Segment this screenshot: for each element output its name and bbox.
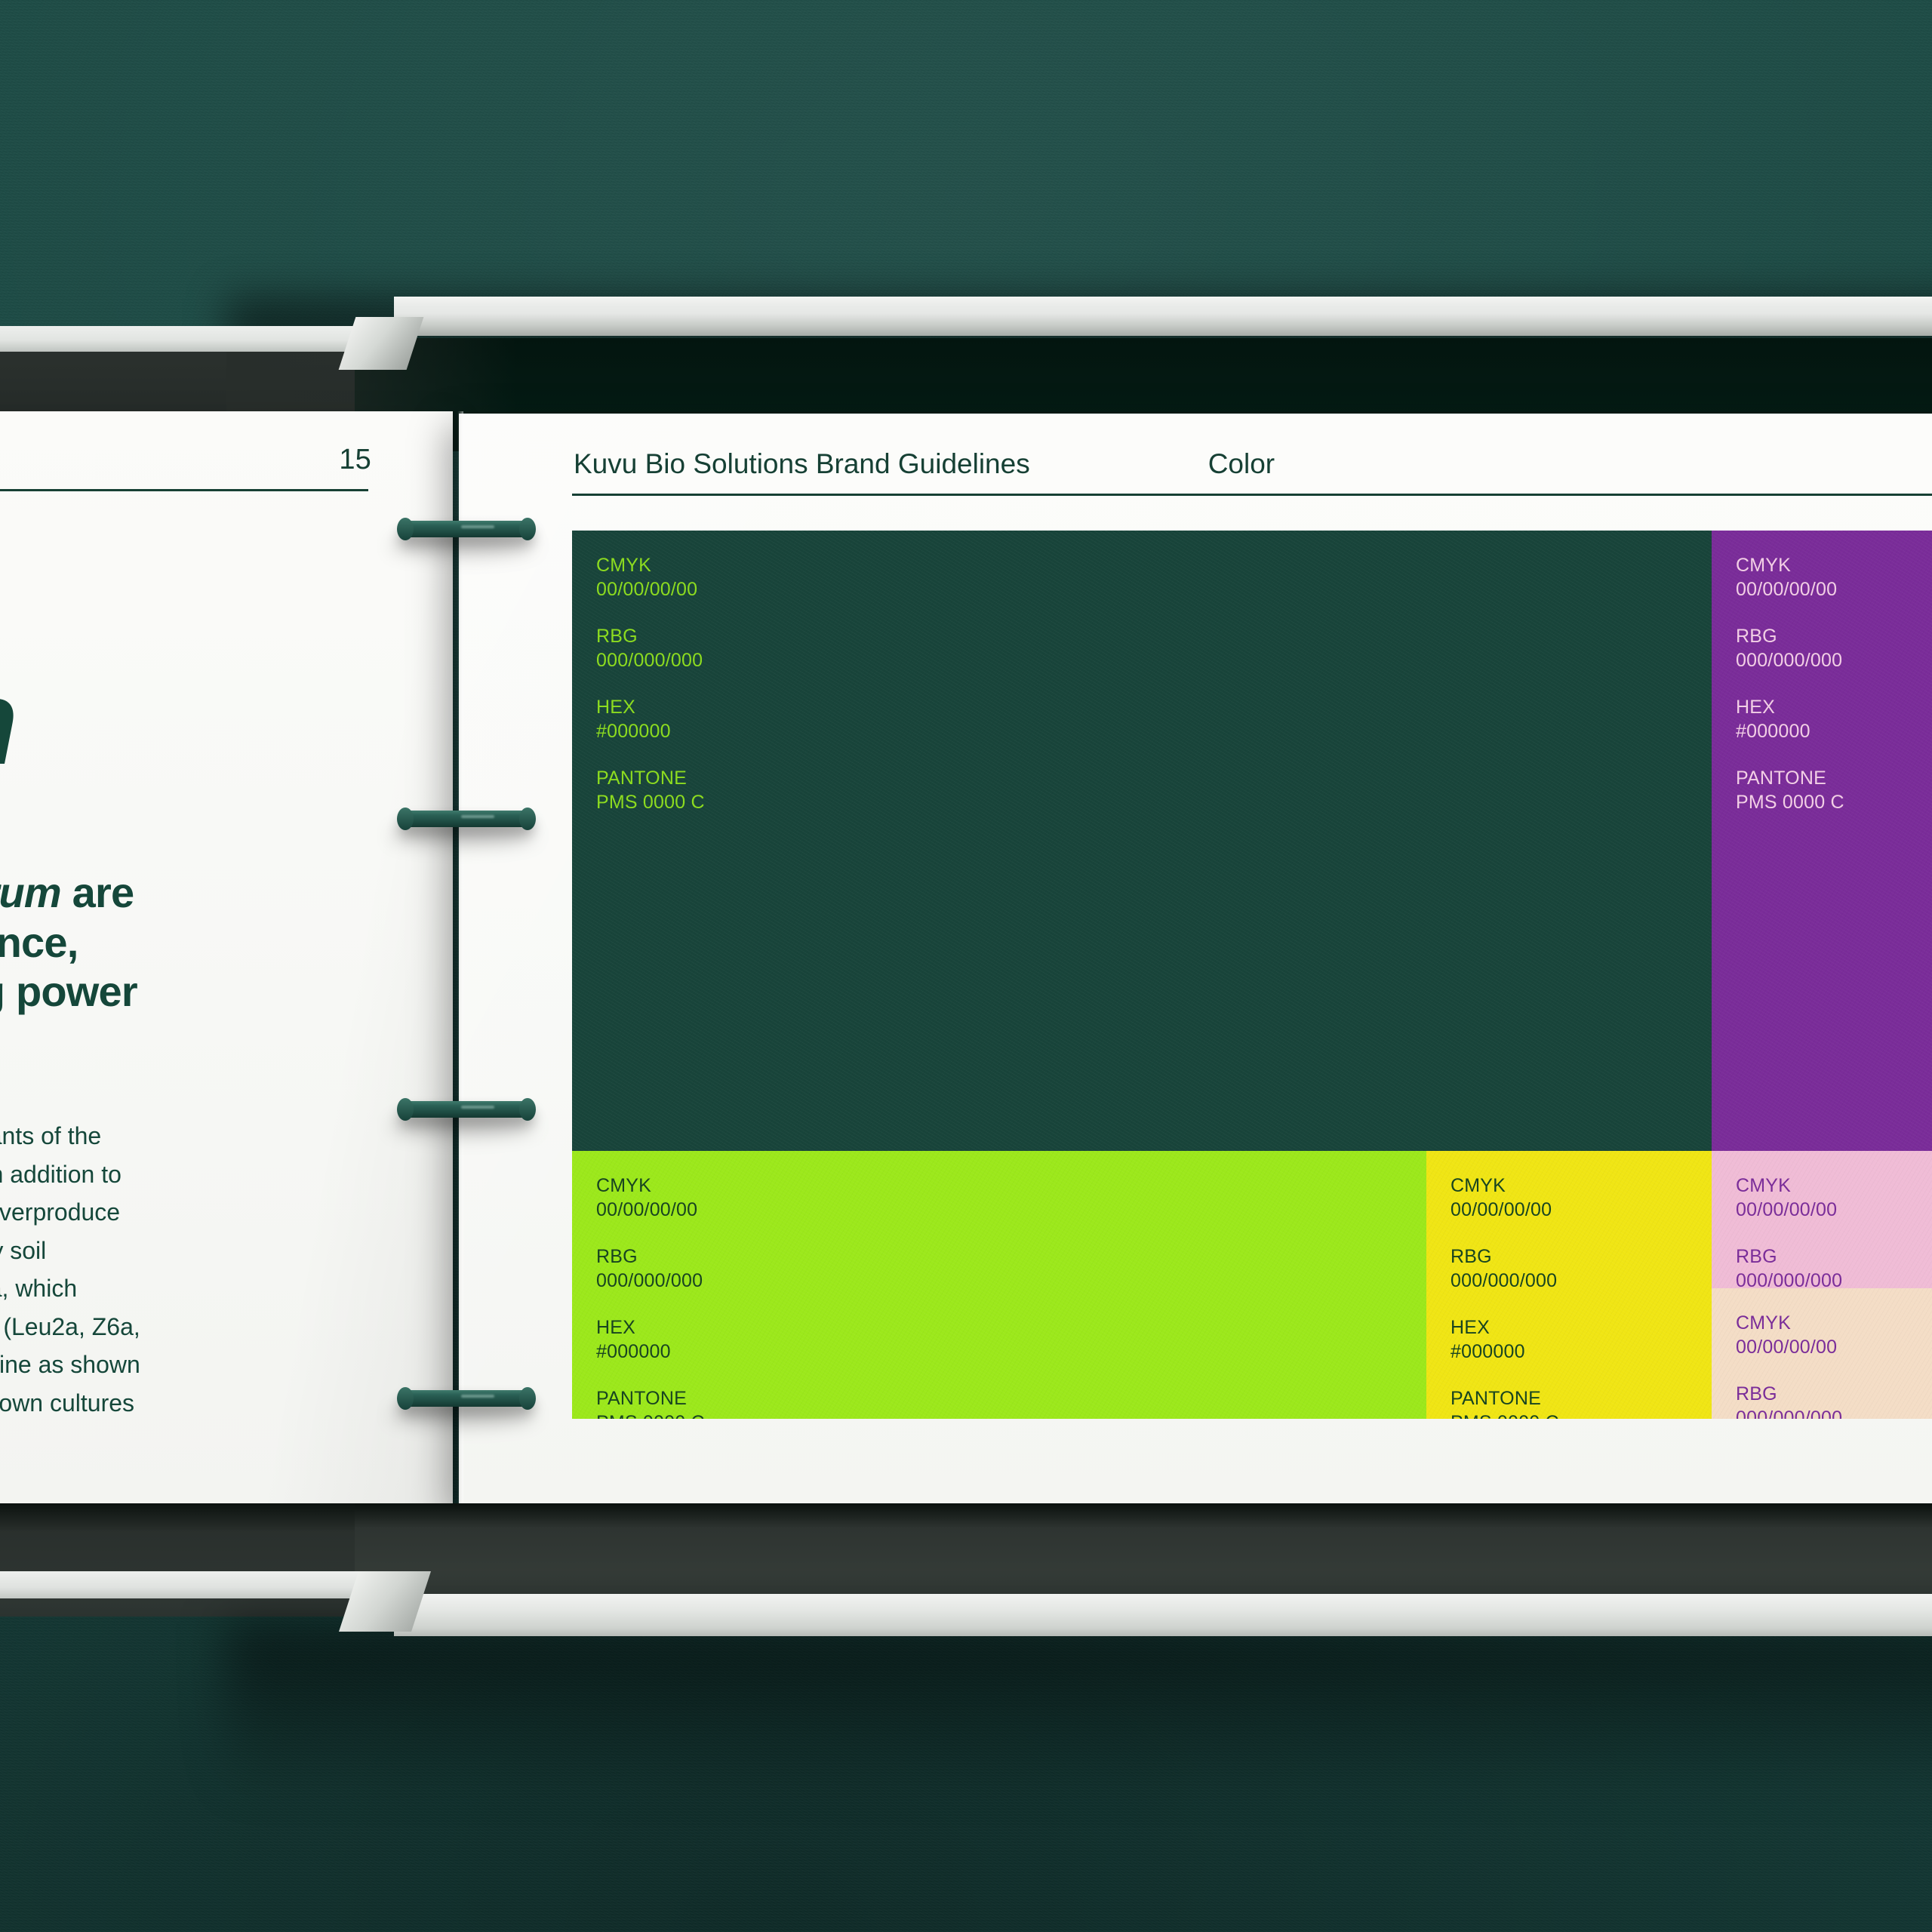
swatch-spec-value: PMS 0000 C	[596, 1411, 1426, 1419]
left-page-body: e select variants of thend leucine. In a…	[0, 1117, 418, 1422]
swatch-spec-block: CMYK00/00/00/00	[1736, 1311, 1932, 1359]
swatch-spec-label: RBG	[596, 624, 1736, 648]
ring-shadow	[391, 536, 534, 555]
mockup-stage: 15 m rum ysporum are virulence, killing …	[0, 0, 1932, 1932]
swatch-spec-label: CMYK	[1736, 1174, 1932, 1198]
page-number: 15	[0, 444, 415, 476]
subtitle-species-italic: ysporum	[0, 869, 61, 916]
swatch-spec-block: PANTONEPMS 0000 C	[1451, 1386, 1712, 1419]
binder-bottom-cover	[394, 1594, 1932, 1636]
left-page-body-line: o ethylene by soil	[0, 1232, 418, 1270]
left-page-body-line: ne, and tyrosine as shown	[0, 1346, 418, 1384]
swatch-pink[interactable]: CMYK00/00/00/00RBG000/000/000	[1712, 1151, 1932, 1288]
left-page-subtitle: ysporum are virulence, killing power	[0, 868, 430, 1017]
swatch-spec-value: 00/00/00/00	[1736, 1335, 1932, 1359]
ring-cap-left	[397, 518, 414, 540]
ring-cap-right	[519, 1098, 536, 1121]
ring-shadow	[391, 1405, 534, 1425]
swatch-spec-label: CMYK	[1736, 553, 1932, 577]
swatch-spec-value: 000/000/000	[1451, 1269, 1712, 1293]
swatch-spec-block: CMYK00/00/00/00	[1736, 553, 1932, 601]
swatch-spec-value: 000/000/000	[1736, 1406, 1932, 1419]
swatch-yellow[interactable]: CMYK00/00/00/00RBG000/000/000HEX#000000P…	[1426, 1151, 1712, 1419]
ring-cap-right	[519, 1387, 536, 1410]
brand-guidelines-title: Kuvu Bio Solutions Brand Guidelines	[574, 448, 1030, 480]
swatch-spec-block: CMYK00/00/00/00	[1736, 1174, 1932, 1222]
ring-cap-right	[519, 518, 536, 540]
ring-bar	[398, 521, 534, 537]
ring-shadow	[391, 1116, 534, 1136]
binder-ring[interactable]	[398, 518, 534, 540]
left-page-body-line: minate Striga, which	[0, 1269, 418, 1308]
left-page-title-line-2: rum	[0, 660, 423, 783]
swatch-spec-block: CMYK00/00/00/00	[1451, 1174, 1712, 1222]
swatch-spec-label: RBG	[1736, 624, 1932, 648]
ring-cap-left	[397, 1387, 414, 1410]
swatch-purple[interactable]: CMYK00/00/00/00RBG000/000/000HEX#000000P…	[1712, 531, 1932, 1151]
swatch-spec-value: 00/00/00/00	[596, 577, 1736, 601]
swatch-spec-value: 000/000/000	[596, 648, 1736, 672]
swatch-lime[interactable]: CMYK00/00/00/00RBG000/000/000HEX#000000P…	[572, 1151, 1426, 1419]
swatch-spec-value: 000/000/000	[1736, 1269, 1932, 1288]
swatch-spec-value: 00/00/00/00	[1451, 1198, 1712, 1222]
binder-bottom-shadow	[226, 1623, 1932, 1796]
swatch-spec-block: HEX#000000	[596, 695, 1736, 743]
subtitle-rest: are	[61, 869, 134, 916]
ring-shadow	[391, 826, 534, 845]
section-label: Color	[1208, 448, 1275, 480]
binder-top-cover-left	[0, 326, 400, 352]
binder-ring[interactable]	[398, 1387, 534, 1410]
swatch-spec-label: RBG	[596, 1244, 1426, 1269]
swatch-spec-label: CMYK	[1736, 1311, 1932, 1335]
left-page-rule	[0, 489, 368, 491]
binder-top-cover	[394, 297, 1932, 336]
left-page-subtitle-line-3: killing power	[0, 967, 430, 1017]
swatch-spec-block: RBG000/000/000	[1736, 1244, 1932, 1288]
swatch-spec-block: RBG000/000/000	[596, 624, 1736, 672]
left-page-body-line: nd leucine. In addition to	[0, 1155, 418, 1194]
left-page-title-line-1: m	[0, 537, 423, 660]
binder-bottom-cover-left	[0, 1571, 400, 1598]
swatch-spec-label: CMYK	[596, 1174, 1426, 1198]
ring-bar	[398, 1390, 534, 1407]
left-page-body-line: ected strains (Leu2a, Z6a,	[0, 1308, 418, 1346]
swatch-spec-label: PANTONE	[1736, 766, 1932, 790]
left-page-subtitle-line-2: virulence,	[0, 918, 430, 968]
swatch-spec-value: PMS 0000 C	[1736, 790, 1932, 814]
swatch-spec-value: 00/00/00/00	[596, 1198, 1426, 1222]
left-page-title: m rum	[0, 537, 423, 783]
swatch-spec-block: HEX#000000	[1451, 1315, 1712, 1364]
left-page-subtitle-line-1: ysporum are	[0, 868, 430, 918]
swatch-spec-label: RBG	[1736, 1244, 1932, 1269]
left-page-body-line: ariants that overproduce	[0, 1193, 418, 1232]
left-page-body-line: SUP broth grown cultures	[0, 1384, 418, 1423]
right-page-rule	[572, 494, 1932, 496]
swatch-spec-block: RBG000/000/000	[1451, 1244, 1712, 1293]
swatch-spec-label: HEX	[1451, 1315, 1712, 1340]
page-gutter	[453, 411, 463, 1507]
ring-cap-right	[519, 808, 536, 830]
swatch-spec-value: #000000	[596, 1340, 1426, 1364]
swatch-spec-block: CMYK00/00/00/00	[596, 1174, 1426, 1222]
swatch-spec-label: PANTONE	[596, 1386, 1426, 1411]
swatch-spec-label: HEX	[596, 695, 1736, 719]
swatch-spec-value: PMS 0000 C	[1451, 1411, 1712, 1419]
swatch-spec-value: #000000	[1451, 1340, 1712, 1364]
swatch-spec-value: #000000	[596, 719, 1736, 743]
ring-cap-left	[397, 1098, 414, 1121]
swatch-spec-label: HEX	[1736, 695, 1932, 719]
swatch-spec-label: PANTONE	[1451, 1386, 1712, 1411]
swatch-spec-label: RBG	[1736, 1382, 1932, 1406]
swatch-spec-value: 000/000/000	[1736, 648, 1932, 672]
right-page-header: Kuvu Bio Solutions Brand Guidelines Colo…	[574, 448, 1932, 480]
swatch-spec-value: 00/00/00/00	[1736, 1198, 1932, 1222]
swatch-spec-label: HEX	[596, 1315, 1426, 1340]
left-page-body-line: e select variants of the	[0, 1117, 418, 1155]
swatch-spec-block: PANTONEPMS 0000 C	[596, 1386, 1426, 1419]
swatch-spec-block: RBG000/000/000	[1736, 624, 1932, 672]
color-swatch-grid: CMYK00/00/00/00RBG000/000/000HEX#000000P…	[572, 531, 1932, 1419]
swatch-spec-label: CMYK	[596, 553, 1736, 577]
swatch-green[interactable]: CMYK00/00/00/00RBG000/000/000HEX#000000P…	[572, 531, 1736, 1151]
ring-bar	[398, 811, 534, 827]
swatch-spec-value: #000000	[1736, 719, 1932, 743]
swatch-spec-block: HEX#000000	[1736, 695, 1932, 743]
swatch-spec-block: PANTONEPMS 0000 C	[1736, 766, 1932, 814]
swatch-spec-block: PANTONEPMS 0000 C	[596, 766, 1736, 814]
binder-ring[interactable]	[398, 1098, 534, 1121]
swatch-spec-value: 00/00/00/00	[1736, 577, 1932, 601]
ring-bar	[398, 1101, 534, 1118]
swatch-spec-label: RBG	[1451, 1244, 1712, 1269]
binder-ring[interactable]	[398, 808, 534, 830]
swatch-peach[interactable]: CMYK00/00/00/00RBG000/000/000	[1712, 1288, 1932, 1419]
swatch-spec-block: RBG000/000/000	[1736, 1382, 1932, 1419]
swatch-spec-block: HEX#000000	[596, 1315, 1426, 1364]
ring-cap-left	[397, 808, 414, 830]
swatch-spec-value: PMS 0000 C	[596, 790, 1736, 814]
swatch-spec-label: CMYK	[1451, 1174, 1712, 1198]
swatch-spec-block: CMYK00/00/00/00	[596, 553, 1736, 601]
swatch-spec-value: 000/000/000	[596, 1269, 1426, 1293]
swatch-spec-label: PANTONE	[596, 766, 1736, 790]
swatch-spec-block: RBG000/000/000	[596, 1244, 1426, 1293]
